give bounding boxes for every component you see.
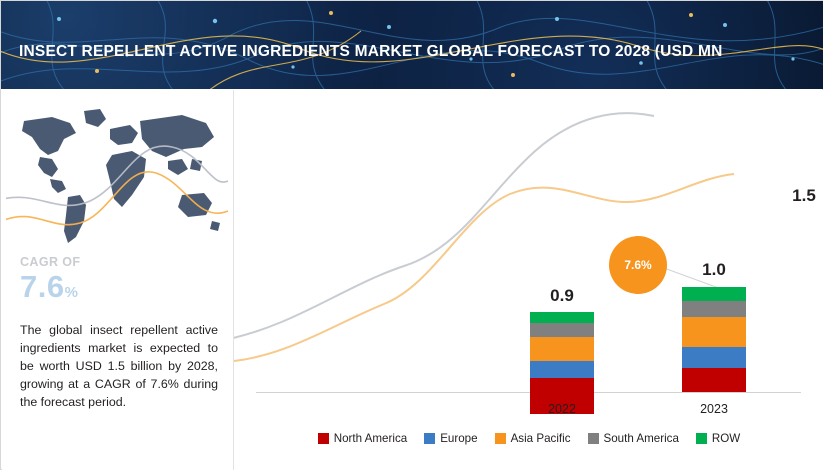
left-panel: CAGR OF 7.6% The global insect repellent… bbox=[2, 89, 233, 470]
x-tick-2022: 2022 bbox=[520, 402, 604, 416]
bar-2022[interactable] bbox=[530, 312, 594, 392]
legend-label-south-america: South America bbox=[604, 432, 679, 445]
legend-label-asia-pacific: Asia Pacific bbox=[511, 432, 571, 445]
bar-total-2028: 1.5 bbox=[664, 186, 823, 206]
page-title: INSECT REPELLENT ACTIVE INGREDIENTS MARK… bbox=[19, 43, 722, 61]
legend-label-europe: Europe bbox=[440, 432, 477, 445]
chart-legend: North America Europe Asia Pacific South … bbox=[234, 427, 823, 449]
segment-2022-row bbox=[530, 312, 594, 323]
cagr-label: CAGR OF bbox=[20, 255, 80, 269]
x-axis-line bbox=[256, 392, 801, 393]
legend-item-south-america[interactable]: South America bbox=[588, 432, 679, 445]
segment-2023-north-america bbox=[682, 368, 746, 392]
legend-item-asia-pacific[interactable]: Asia Pacific bbox=[495, 432, 571, 445]
x-tick-2023: 2023 bbox=[672, 402, 756, 416]
legend-item-north-america[interactable]: North America bbox=[318, 432, 407, 445]
bar-total-2022: 0.9 bbox=[512, 286, 612, 306]
legend-item-row[interactable]: ROW bbox=[696, 432, 740, 445]
bar-2023[interactable] bbox=[682, 287, 746, 392]
cagr-number: 7.6 bbox=[20, 269, 65, 304]
legend-label-row: ROW bbox=[712, 432, 740, 445]
legend-swatch-south-america bbox=[588, 433, 599, 444]
legend-item-europe[interactable]: Europe bbox=[424, 432, 477, 445]
segment-2023-south-america bbox=[682, 301, 746, 317]
header-banner: INSECT REPELLENT ACTIVE INGREDIENTS MARK… bbox=[1, 1, 823, 89]
segment-2023-europe bbox=[682, 347, 746, 368]
cagr-percent-sign: % bbox=[65, 284, 79, 301]
legend-swatch-asia-pacific bbox=[495, 433, 506, 444]
legend-swatch-europe bbox=[424, 433, 435, 444]
legend-swatch-north-america bbox=[318, 433, 329, 444]
chart-panel: 0.9 2022 1.0 2023 1.5 2028 bbox=[233, 90, 823, 470]
legend-label-north-america: North America bbox=[334, 432, 407, 445]
segment-2023-asia-pacific bbox=[682, 317, 746, 347]
segment-2022-south-america bbox=[530, 323, 594, 337]
world-map-icon bbox=[6, 103, 228, 253]
summary-text: The global insect repellent active ingre… bbox=[20, 321, 218, 411]
legend-swatch-row bbox=[696, 433, 707, 444]
segment-2023-row bbox=[682, 287, 746, 301]
segment-2022-europe bbox=[530, 361, 594, 378]
cagr-bubble-annotation: 7.6% bbox=[609, 236, 667, 294]
infographic-root: INSECT REPELLENT ACTIVE INGREDIENTS MARK… bbox=[0, 0, 823, 470]
cagr-value: 7.6% bbox=[20, 269, 78, 305]
segment-2022-asia-pacific bbox=[530, 337, 594, 361]
bar-total-2023: 1.0 bbox=[664, 260, 764, 280]
